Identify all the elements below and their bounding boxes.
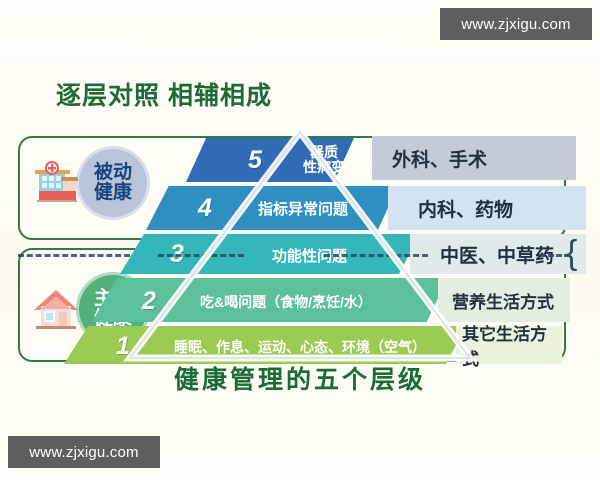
pyramid-rows: 5 器质 性病变 外科、手术 4 指标异常问题 内科、药物 3 功能性问题 — [0, 130, 600, 362]
watermark-bottom: www.zjxigu.com — [8, 436, 160, 468]
level-4-bar: 4 指标异常问题 — [146, 186, 398, 230]
level-5-solution-cell: 外科、手术 — [372, 136, 576, 180]
level-2-solution-cell: 营养生活方式 — [438, 278, 570, 322]
level-4-problem: 指标异常问题 — [258, 198, 348, 219]
level-3-brace: { — [566, 236, 577, 270]
level-5-problem: 器质 性病变 — [303, 145, 345, 175]
page-title: 逐层对照 相辅相成 — [56, 76, 272, 112]
level-5-problem-wrap: 器质 性病变 — [282, 136, 366, 184]
level-4-number: 4 — [198, 194, 212, 223]
level-3-solution: 中医、中草药 — [440, 241, 554, 268]
level-5-solution: 外科、手术 — [392, 145, 487, 172]
level-3-dash-left — [18, 254, 130, 257]
level-5-number: 5 — [248, 146, 262, 175]
level-1-bar: 1 睡眠、作息、运动、心态、环境（空气） — [64, 326, 466, 364]
level-4-solution-cell: 内科、药物 — [388, 186, 586, 230]
level-2-number: 2 — [142, 287, 156, 316]
level-1-number: 1 — [116, 332, 130, 361]
level-1-problem: 睡眠、作息、运动、心态、环境（空气） — [174, 337, 426, 357]
level-3-dash-mid — [158, 254, 244, 257]
level-3-dash-right — [324, 254, 428, 257]
footer-title: 健康管理的五个层级 — [0, 360, 600, 396]
level-2-solution: 营养生活方式 — [452, 288, 554, 313]
level-2-problem: 吃&喝问题（食物/烹饪/水） — [200, 292, 372, 312]
watermark-top: www.zjxigu.com — [440, 8, 592, 40]
level-2-bar: 2 吃&喝问题（食物/烹饪/水） — [92, 278, 448, 322]
level-1-solution-cell: 其它生活方式 — [456, 326, 562, 364]
poster-canvas: 逐层对照 相辅相成 被动 — [0, 0, 600, 480]
level-4-solution: 内科、药物 — [418, 195, 513, 222]
